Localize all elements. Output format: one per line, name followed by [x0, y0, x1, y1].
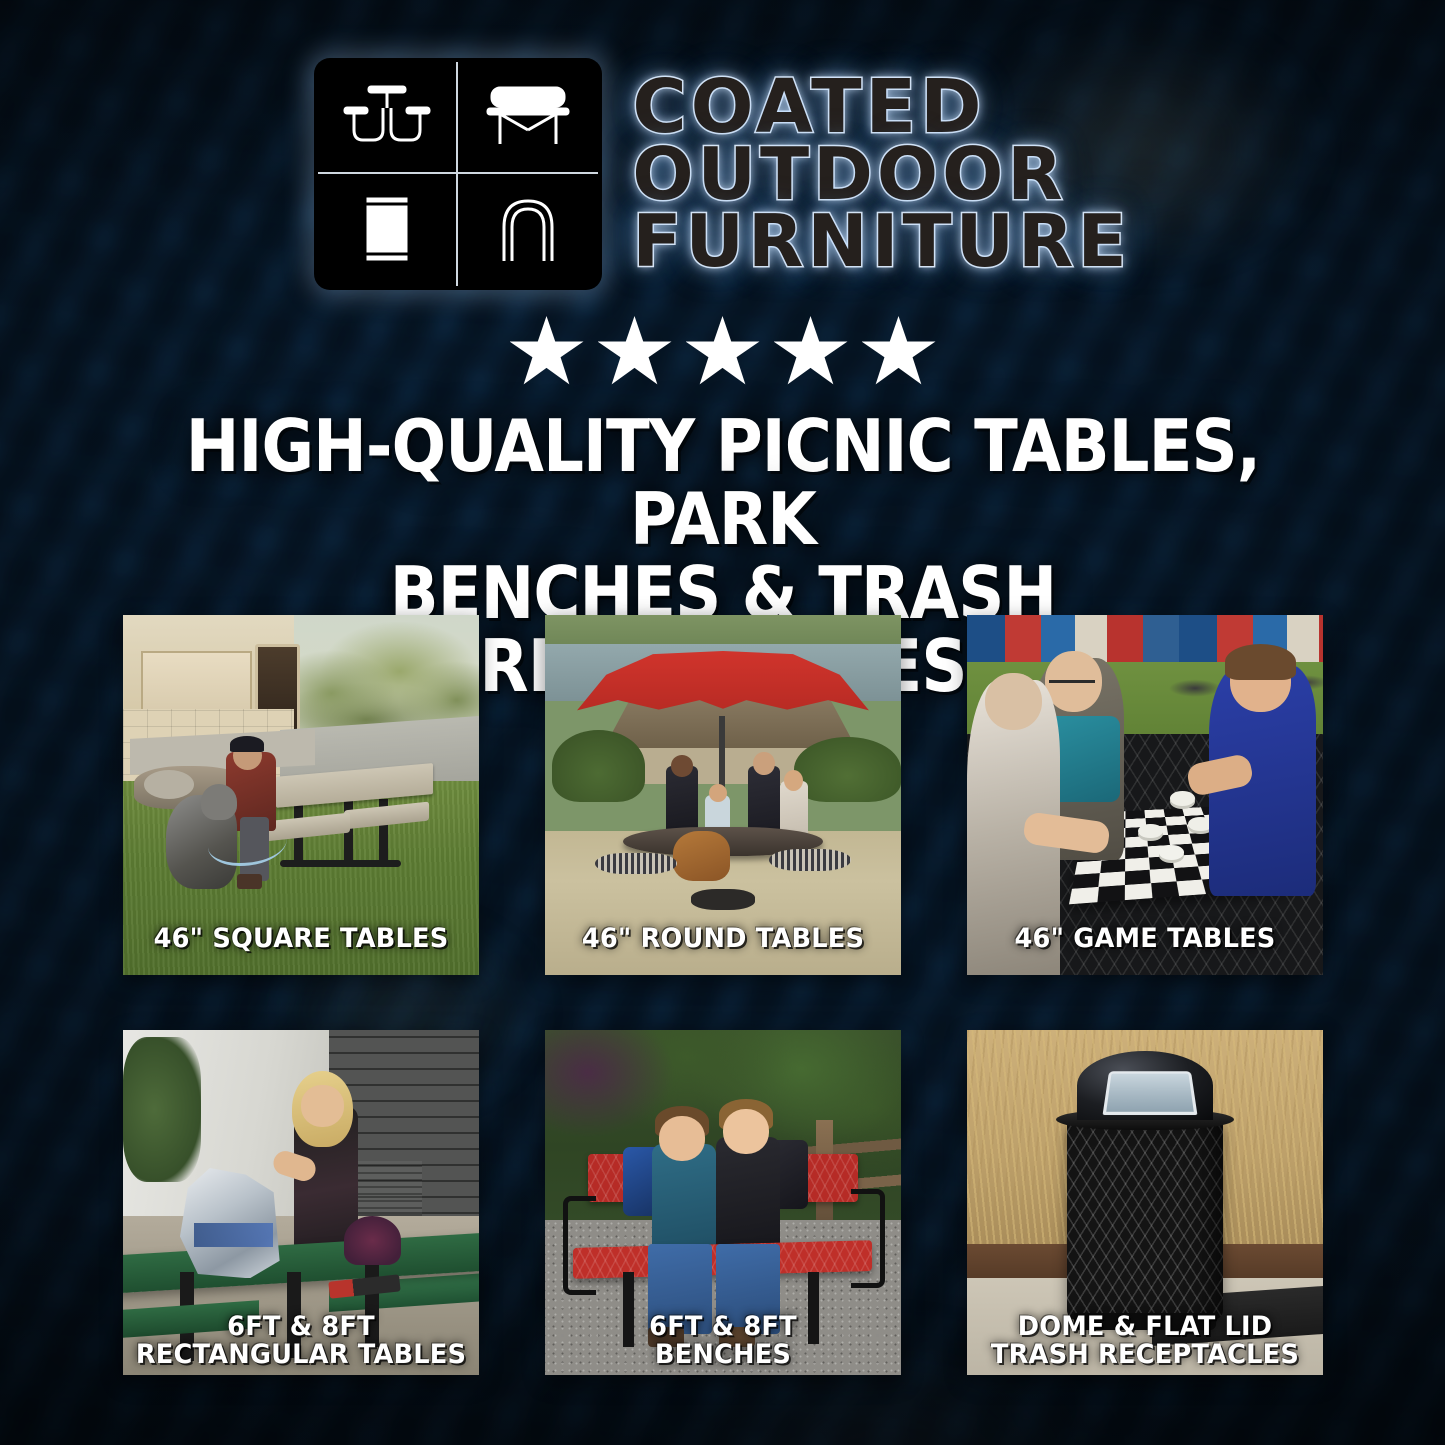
- logo-icon-grid: [314, 58, 602, 290]
- product-photo-square-tables: [123, 615, 479, 975]
- brand-logo: COATED OUTDOOR FURNITURE: [0, 0, 1445, 290]
- star-icon: [774, 316, 848, 388]
- product-card-trash-receptacles[interactable]: DOME & FLAT LID TRASH RECEPTACLES: [967, 1030, 1323, 1375]
- product-card-round-tables[interactable]: 46" ROUND TABLES: [545, 615, 901, 975]
- product-photo-game-tables: [967, 615, 1323, 975]
- product-photo-benches: [545, 1030, 901, 1375]
- product-card-square-tables[interactable]: 46" SQUARE TABLES: [123, 615, 479, 975]
- picnic-table-icon: [318, 62, 458, 174]
- product-card-rectangular-tables[interactable]: 6FT & 8FT RECTANGULAR TABLES: [123, 1030, 479, 1375]
- star-rating: [0, 316, 1445, 388]
- product-photo-round-tables: [545, 615, 901, 975]
- trash-receptacle-icon: [318, 174, 458, 286]
- star-icon: [598, 316, 672, 388]
- star-icon: [686, 316, 760, 388]
- promo-banner: COATED OUTDOOR FURNITURE HIGH-QUALITY PI…: [0, 0, 1445, 1445]
- product-card-benches[interactable]: 6FT & 8FT BENCHES: [545, 1030, 901, 1375]
- product-photo-trash-receptacles: [967, 1030, 1323, 1375]
- logo-word-furniture: FURNITURE: [632, 208, 1130, 275]
- product-grid: 46" SQUARE TABLES: [123, 615, 1323, 1375]
- star-icon: [862, 316, 936, 388]
- product-card-game-tables[interactable]: 46" GAME TABLES: [967, 615, 1323, 975]
- star-icon: [510, 316, 584, 388]
- headline-line-1: HIGH-QUALITY PICNIC TABLES, PARK: [162, 410, 1283, 557]
- bike-rack-icon: [458, 174, 598, 286]
- bench-table-icon: [458, 62, 598, 174]
- product-photo-rectangular-tables: [123, 1030, 479, 1375]
- brand-wordmark: COATED OUTDOOR FURNITURE: [632, 73, 1130, 276]
